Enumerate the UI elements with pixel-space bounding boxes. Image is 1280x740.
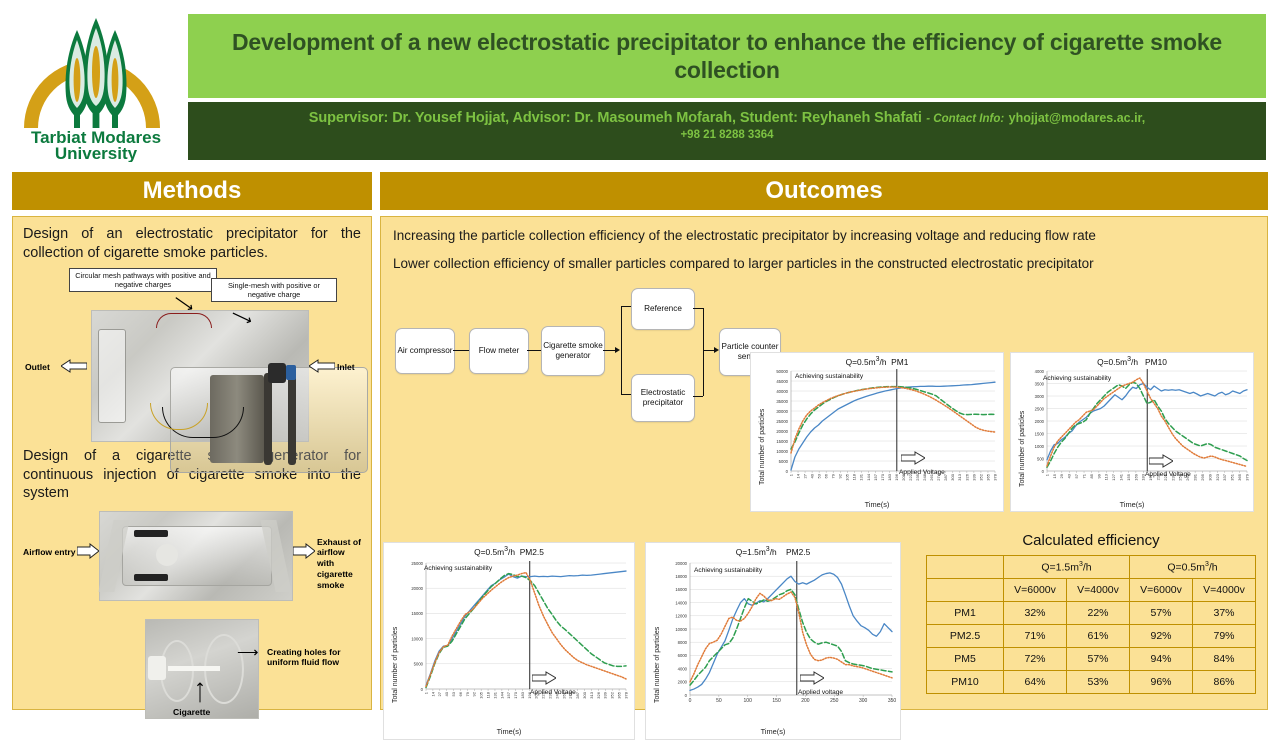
svg-text:66: 66: [458, 691, 463, 696]
end-flange-left: [98, 329, 126, 423]
precipitator-photo: [91, 310, 309, 442]
flow-split-bar: [621, 306, 622, 394]
svg-text:53: 53: [451, 691, 456, 696]
outcomes-paragraph-2: Lower collection efficiency of smaller p…: [393, 255, 1255, 273]
table-cell-pm10-q15-4000: 53%: [1067, 671, 1130, 694]
table-row-label-pm1: PM1: [927, 602, 1004, 625]
contact-phone: +98 21 8288 3364: [188, 129, 1266, 141]
svg-text:326: 326: [964, 473, 969, 480]
svg-text:53: 53: [817, 473, 822, 478]
svg-text:14000: 14000: [675, 600, 687, 605]
flow-node-air-compressor: Air compressor: [395, 328, 455, 374]
svg-text:10000: 10000: [411, 636, 423, 641]
holes-label: Creating holes for uniform fluid flow: [267, 647, 361, 668]
svg-text:144: 144: [866, 473, 871, 480]
svg-text:339: 339: [971, 473, 976, 480]
svg-text:29: 29: [1059, 473, 1064, 478]
flow-merge-bottom: [693, 396, 703, 397]
svg-text:20000: 20000: [776, 429, 788, 434]
svg-text:281: 281: [1193, 473, 1198, 480]
table-cell-pm25-q05-4000: 79%: [1193, 625, 1256, 648]
efficiency-table: Q=1.5m3/h Q=0.5m3/h V=6000v V=4000v V=60…: [926, 555, 1256, 694]
table-row-label-pm25: PM2.5: [927, 625, 1004, 648]
chart-pm25-q15-voltage-arrow-icon: [800, 671, 824, 685]
svg-text:300: 300: [582, 691, 587, 698]
airflow-entry-arrow-icon: [77, 543, 99, 559]
chart-pm25-q15: Q=1.5m3/h PM2.5 Total number of particle…: [645, 542, 901, 740]
svg-text:5000: 5000: [779, 459, 789, 464]
svg-text:57: 57: [1074, 473, 1079, 478]
table-row: PM1 32% 22% 57% 37%: [927, 602, 1256, 625]
svg-text:352: 352: [978, 473, 983, 480]
perforated-disk-photo: [145, 619, 259, 719]
cigarette-body: [168, 666, 220, 671]
cigarette-arrow-icon: ⟶: [192, 681, 207, 703]
svg-text:352: 352: [610, 691, 615, 698]
svg-text:40: 40: [810, 473, 815, 478]
svg-text:4000: 4000: [678, 666, 688, 671]
svg-text:15000: 15000: [776, 439, 788, 444]
logo-line-2: University: [55, 144, 138, 162]
mesh-disk-1: [264, 373, 272, 465]
table-row: PM10 64% 53% 96% 86%: [927, 671, 1256, 694]
chart-pm10-annotation-voltage: Applied Voltage: [1145, 471, 1191, 478]
chart-pm1-plot: 0500010000150002000025000300003500040000…: [751, 353, 1003, 511]
cigarette-mount: [148, 656, 166, 680]
svg-text:45000: 45000: [776, 379, 788, 384]
outcomes-paragraph-1: Increasing the particle collection effic…: [393, 227, 1255, 245]
poster-credits-bar: Supervisor: Dr. Yousef Hojjat, Advisor: …: [188, 102, 1266, 160]
exhaust-arrow-icon: [293, 543, 315, 559]
svg-text:300: 300: [950, 473, 955, 480]
table-row-label-pm10: PM10: [927, 671, 1004, 694]
svg-text:365: 365: [1237, 473, 1242, 480]
svg-text:92: 92: [472, 691, 477, 696]
svg-text:25000: 25000: [776, 419, 788, 424]
svg-text:300: 300: [859, 698, 868, 704]
svg-text:40000: 40000: [776, 389, 788, 394]
svg-text:1000: 1000: [1035, 444, 1045, 449]
poster-root: Tarbiat Modares University Development o…: [0, 0, 1280, 720]
methods-paragraph-1: Design of an electrostatic precipitator …: [23, 225, 361, 262]
svg-text:144: 144: [499, 691, 504, 698]
mesh-disk-2: [288, 373, 296, 465]
svg-text:378: 378: [992, 473, 997, 480]
flow-link-1: [453, 350, 469, 351]
table-cell-pm1-q15-6000: 32%: [1004, 602, 1067, 625]
flow-split-bottom: [621, 394, 631, 395]
red-wire: [156, 313, 212, 328]
svg-text:157: 157: [873, 473, 878, 480]
table-cell-pm5-q05-6000: 94%: [1130, 648, 1193, 671]
table-cell-pm1-q15-4000: 22%: [1067, 602, 1130, 625]
table-group-q05: Q=0.5m3/h: [1130, 556, 1256, 579]
contact-email[interactable]: yhojjat@modares.ac.ir,: [1009, 111, 1146, 125]
svg-text:365: 365: [985, 473, 990, 480]
svg-text:337: 337: [1222, 473, 1227, 480]
table-cell-pm1-q05-4000: 37%: [1193, 602, 1256, 625]
outcomes-body: Increasing the particle collection effic…: [380, 216, 1268, 710]
chart-pm1-annotation-voltage: Applied Voltage: [899, 469, 945, 476]
chart-pm25-q05: Q=0.5m3/h PM2.5 Total number of particle…: [383, 542, 635, 740]
table-cell-pm10-q05-6000: 96%: [1130, 671, 1193, 694]
svg-text:0: 0: [1042, 469, 1045, 474]
svg-text:10000: 10000: [675, 627, 687, 632]
svg-text:131: 131: [859, 473, 864, 480]
table-cell-pm1-q05-6000: 57%: [1130, 602, 1193, 625]
svg-text:35000: 35000: [776, 399, 788, 404]
efficiency-table-title: Calculated efficiency: [921, 532, 1261, 549]
svg-text:1500: 1500: [1035, 431, 1045, 436]
svg-text:309: 309: [1207, 473, 1212, 480]
svg-text:8000: 8000: [678, 640, 688, 645]
contact-info-label: - Contact Info:: [926, 113, 1004, 125]
svg-text:5000: 5000: [414, 662, 424, 667]
svg-text:169: 169: [1133, 473, 1138, 480]
table-sub-header-row: V=6000v V=4000v V=6000v V=4000v: [927, 579, 1256, 602]
outcomes-column: Outcomes Increasing the particle collect…: [380, 172, 1268, 712]
svg-text:99: 99: [1096, 473, 1101, 478]
clamp-top: [134, 530, 168, 537]
table-cell-pm5-q15-6000: 72%: [1004, 648, 1067, 671]
flow-node-electrostatic-precipitator: Electrostatic precipitator: [631, 374, 695, 422]
svg-text:4000: 4000: [1035, 369, 1045, 374]
flow-link-2: [527, 350, 541, 351]
chart-pm25-q05-plot: 0500010000150002000025000114274053667992…: [384, 543, 634, 739]
chart-pm10: Q=0.5m3/h PM10 Total number of particles…: [1010, 352, 1254, 512]
holes-arrow-icon: ⟶: [237, 645, 259, 660]
svg-text:127: 127: [1111, 473, 1116, 480]
chart-pm10-voltage-arrow-icon: [1149, 454, 1173, 468]
flow-node-flow-meter: Flow meter: [469, 328, 529, 374]
svg-text:43: 43: [1067, 473, 1072, 478]
methods-column: Methods Design of an electrostatic preci…: [12, 172, 372, 712]
clamp-bottom: [134, 574, 168, 581]
svg-text:118: 118: [485, 691, 490, 698]
smoke-generator-photo: [99, 511, 293, 601]
svg-text:295: 295: [1200, 473, 1205, 480]
svg-text:14: 14: [430, 691, 435, 696]
svg-text:0: 0: [689, 698, 692, 704]
svg-text:365: 365: [617, 691, 622, 698]
callout-single-mesh: Single-mesh with positive or negative ch…: [211, 278, 337, 302]
efficiency-table-block: Calculated efficiency Q=1.5m3/h Q=0.5m3/…: [921, 532, 1261, 694]
poster-header: Tarbiat Modares University Development o…: [0, 0, 1280, 165]
svg-text:2000: 2000: [678, 680, 688, 685]
smoke-generator-figure: Airflow entry Exhaust of airflow with ci…: [23, 507, 363, 617]
svg-text:170: 170: [513, 691, 518, 698]
svg-text:131: 131: [492, 691, 497, 698]
chart-pm1-voltage-arrow-icon: [901, 451, 925, 465]
svg-text:118: 118: [852, 473, 857, 480]
svg-text:25000: 25000: [411, 561, 423, 566]
chart-pm1: Q=0.5m3/h PM1 Total number of particles …: [750, 352, 1004, 512]
airflow-entry-label: Airflow entry: [23, 547, 76, 557]
flow-merge-top: [693, 308, 703, 309]
svg-text:15: 15: [1052, 473, 1057, 478]
svg-text:379: 379: [1244, 473, 1249, 480]
svg-text:313: 313: [589, 691, 594, 698]
chart-pm25-q05-annotation-voltage: Applied Voltage: [530, 689, 576, 696]
svg-text:326: 326: [596, 691, 601, 698]
svg-text:323: 323: [1215, 473, 1220, 480]
svg-text:0: 0: [685, 693, 688, 698]
credits-people: Supervisor: Dr. Yousef Hojjat, Advisor: …: [309, 110, 922, 126]
svg-text:200: 200: [801, 698, 810, 704]
svg-text:183: 183: [520, 691, 525, 698]
svg-text:105: 105: [479, 691, 484, 698]
university-logo: Tarbiat Modares University: [14, 10, 179, 162]
table-cell-pm5-q15-4000: 57%: [1067, 648, 1130, 671]
svg-text:12000: 12000: [675, 614, 687, 619]
svg-text:30000: 30000: [776, 409, 788, 414]
table-row: PM2.5 71% 61% 92% 79%: [927, 625, 1256, 648]
svg-text:2000: 2000: [1035, 419, 1045, 424]
svg-text:85: 85: [1089, 473, 1094, 478]
table-cell-pm5-q05-4000: 84%: [1193, 648, 1256, 671]
svg-text:20000: 20000: [675, 561, 687, 566]
svg-text:141: 141: [1118, 473, 1123, 480]
exhaust-label: Exhaust of airflow with cigarette smoke: [317, 537, 363, 591]
table-sub-q05-6000: V=6000v: [1130, 579, 1193, 602]
svg-text:3000: 3000: [1035, 394, 1045, 399]
table-sub-q05-4000: V=4000v: [1193, 579, 1256, 602]
precipitator-figure: Circular mesh pathways with positive and…: [23, 266, 363, 441]
perforated-disk-figure: Creating holes for uniform fluid flow ⟶ …: [23, 619, 363, 719]
svg-text:250: 250: [830, 698, 839, 704]
table-group-q15: Q=1.5m3/h: [1004, 556, 1130, 579]
inlet-fitting: [286, 365, 296, 380]
svg-text:2500: 2500: [1035, 406, 1045, 411]
svg-text:350: 350: [888, 698, 897, 704]
svg-text:1: 1: [423, 691, 428, 694]
svg-text:71: 71: [1081, 473, 1086, 478]
svg-text:92: 92: [838, 473, 843, 478]
flow-node-smoke-generator: Cigarette smoke generator: [541, 326, 605, 376]
svg-text:79: 79: [465, 691, 470, 696]
flow-split-top: [621, 306, 631, 307]
svg-text:10000: 10000: [776, 449, 788, 454]
chart-pm25-q15-plot: 0200040006000800010000120001400016000180…: [646, 543, 900, 739]
table-cell-pm10-q05-4000: 86%: [1193, 671, 1256, 694]
svg-text:105: 105: [845, 473, 850, 480]
chart-pm25-q15-annotation-sustainability: Achieving sustainability: [694, 567, 762, 574]
chart-pm10-annotation-sustainability: Achieving sustainability: [1043, 375, 1111, 382]
callout-circular-mesh: Circular mesh pathways with positive and…: [69, 268, 217, 292]
svg-text:113: 113: [1104, 473, 1109, 480]
table-cell-pm25-q15-6000: 71%: [1004, 625, 1067, 648]
table-sub-q15-4000: V=4000v: [1067, 579, 1130, 602]
table-cell-pm25-q05-6000: 92%: [1130, 625, 1193, 648]
methods-body: Design of an electrostatic precipitator …: [12, 216, 372, 710]
svg-text:18000: 18000: [675, 574, 687, 579]
table-group-header-row: Q=1.5m3/h Q=0.5m3/h: [927, 556, 1256, 579]
inlet-label: Inlet: [337, 362, 355, 372]
svg-text:20000: 20000: [411, 586, 423, 591]
outlet-label: Outlet: [25, 362, 50, 372]
svg-text:170: 170: [880, 473, 885, 480]
svg-text:16000: 16000: [675, 587, 687, 592]
svg-text:1: 1: [788, 473, 793, 476]
svg-text:40: 40: [444, 691, 449, 696]
svg-text:14: 14: [795, 473, 800, 478]
flow-merge-bar: [703, 308, 704, 396]
svg-text:378: 378: [623, 691, 628, 698]
outlet-arrow-icon: [61, 359, 87, 373]
table-sub-q15-6000: V=6000v: [1004, 579, 1067, 602]
inlet-arrow-icon: [309, 359, 335, 373]
svg-text:150: 150: [772, 698, 781, 704]
svg-text:0: 0: [421, 687, 424, 692]
svg-text:3500: 3500: [1035, 381, 1045, 386]
svg-text:79: 79: [831, 473, 836, 478]
svg-text:100: 100: [744, 698, 753, 704]
flow-arrow-3-icon: [615, 347, 620, 353]
svg-text:183: 183: [887, 473, 892, 480]
svg-text:27: 27: [802, 473, 807, 478]
inlet-port: [268, 363, 286, 383]
svg-text:500: 500: [1037, 456, 1045, 461]
table-cell-pm10-q15-6000: 64%: [1004, 671, 1067, 694]
chart-pm25-q05-annotation-sustainability: Achieving sustainability: [424, 565, 492, 572]
logo-artwork: Tarbiat Modares University: [14, 10, 179, 162]
table-corner-cell: [927, 556, 1004, 579]
methods-heading: Methods: [12, 172, 372, 210]
svg-text:313: 313: [957, 473, 962, 480]
table-row: PM5 72% 57% 94% 84%: [927, 648, 1256, 671]
svg-text:155: 155: [1126, 473, 1131, 480]
svg-text:27: 27: [437, 691, 442, 696]
table-cell-pm25-q15-4000: 61%: [1067, 625, 1130, 648]
svg-text:6000: 6000: [678, 653, 688, 658]
chart-pm25-q05-voltage-arrow-icon: [532, 671, 556, 685]
system-flow-diagram: Air compressor Flow meter Cigarette smok…: [393, 282, 753, 432]
svg-text:1: 1: [1044, 473, 1049, 476]
cigarette-holder: [156, 544, 178, 566]
svg-text:351: 351: [1230, 473, 1235, 480]
flow-node-reference: Reference: [631, 288, 695, 330]
svg-text:157: 157: [506, 691, 511, 698]
outcomes-heading: Outcomes: [380, 172, 1268, 210]
poster-title-bar: Development of a new electrostatic preci…: [188, 14, 1266, 98]
svg-text:339: 339: [603, 691, 608, 698]
chart-pm25-q15-annotation-voltage: Applied voltage: [798, 689, 843, 696]
svg-text:0: 0: [786, 469, 789, 474]
svg-text:50000: 50000: [776, 369, 788, 374]
svg-text:50: 50: [716, 698, 722, 704]
svg-text:15000: 15000: [411, 611, 423, 616]
poster-title: Development of a new electrostatic preci…: [188, 28, 1266, 84]
cigarette-label: Cigarette: [173, 707, 210, 717]
table-sub-corner-cell: [927, 579, 1004, 602]
chart-pm1-annotation-sustainability: Achieving sustainability: [795, 373, 863, 380]
svg-text:66: 66: [824, 473, 829, 478]
table-row-label-pm5: PM5: [927, 648, 1004, 671]
